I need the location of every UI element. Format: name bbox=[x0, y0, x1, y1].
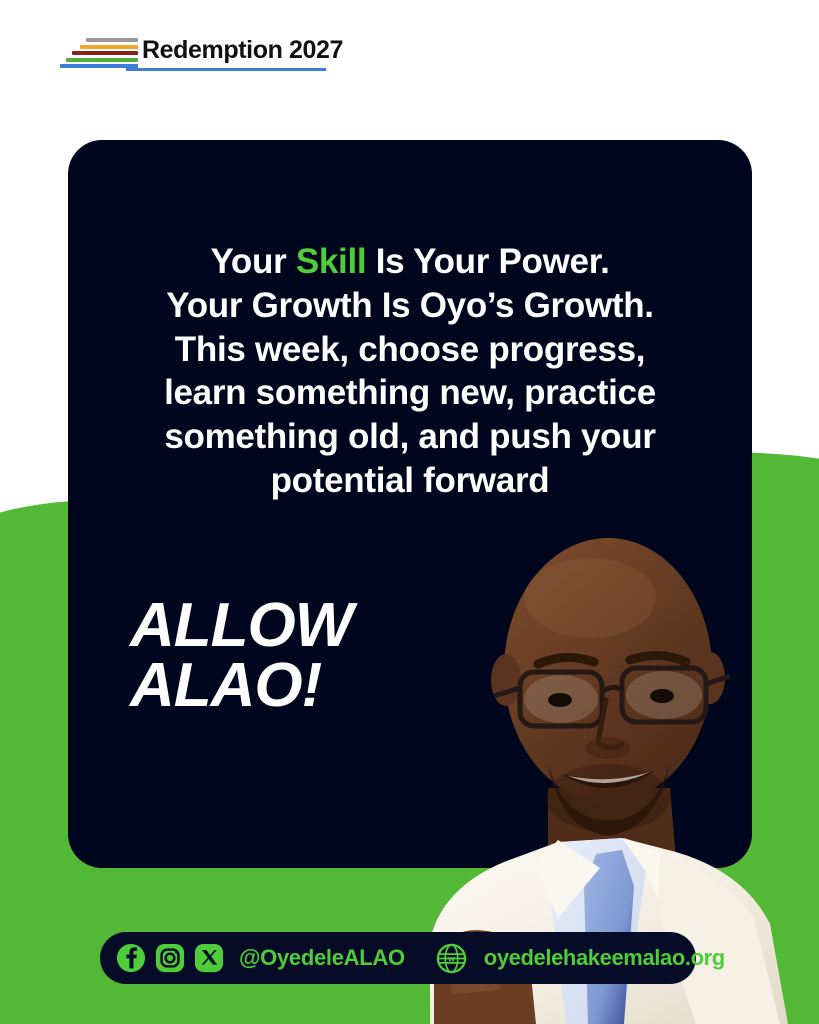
globe-www-icon[interactable]: w bbox=[436, 943, 467, 974]
poster-canvas: Redemption 2027 Your Skill Is Your Power… bbox=[0, 0, 819, 1024]
social-handle[interactable]: @OyedeleALAO bbox=[239, 945, 405, 971]
brand-logo: Redemption 2027 bbox=[60, 33, 343, 69]
social-footer-bar: @OyedeleALAO w oyedelehakeemalao.org bbox=[100, 932, 696, 984]
quote-line-4: learn something new, practice bbox=[86, 371, 734, 415]
logo-bars-icon bbox=[60, 33, 138, 69]
quote-block: Your Skill Is Your Power. Your Growth Is… bbox=[68, 240, 752, 503]
logo-bar-2 bbox=[80, 45, 138, 49]
logo-bar-4 bbox=[66, 58, 138, 62]
website-url[interactable]: oyedelehakeemalao.org bbox=[484, 945, 725, 971]
x-twitter-icon[interactable] bbox=[194, 943, 224, 973]
quote-line-1-prefix: Your bbox=[210, 242, 295, 281]
quote-line-1-suffix: Is Your Power. bbox=[366, 242, 609, 281]
logo-bar-1 bbox=[86, 38, 138, 42]
headline-line-2: ALAO! bbox=[130, 656, 352, 716]
quote-line-1: Your Skill Is Your Power. bbox=[86, 240, 734, 284]
headline-block: ALLOW ALAO! bbox=[130, 596, 352, 716]
quote-line-6: potential forward bbox=[86, 459, 734, 503]
brand-logo-text: Redemption 2027 bbox=[142, 38, 343, 69]
quote-line-2: Your Growth Is Oyo’s Growth. bbox=[86, 284, 734, 328]
svg-text:w: w bbox=[447, 953, 455, 963]
quote-highlight-skill: Skill bbox=[296, 242, 366, 281]
brand-logo-underline bbox=[126, 68, 326, 71]
logo-bar-3 bbox=[72, 51, 138, 55]
headline-line-1: ALLOW bbox=[130, 596, 352, 656]
quote-line-3: This week, choose progress, bbox=[86, 328, 734, 372]
instagram-icon[interactable] bbox=[155, 943, 185, 973]
facebook-icon[interactable] bbox=[116, 943, 146, 973]
quote-line-5: something old, and push your bbox=[86, 415, 734, 459]
